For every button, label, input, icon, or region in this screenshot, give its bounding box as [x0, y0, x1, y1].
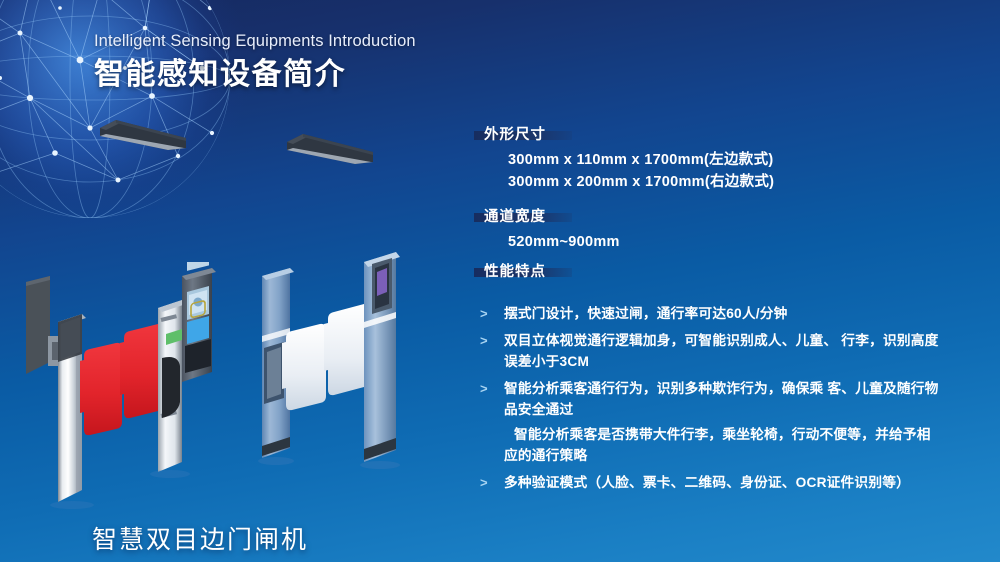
ceiling-light-fixture-left — [98, 118, 188, 152]
section-header-row-1: 通道宽度 — [474, 213, 944, 222]
chevron-right-icon: > — [480, 330, 488, 351]
swing-gate-turnstile-blue-photo — [248, 250, 428, 495]
spec-line: 520mm~900mm — [508, 231, 944, 253]
list-item-sub: 智能分析乘客是否携带大件行李，乘坐轮椅，行动不便等，并给予相应的通行策略 — [474, 424, 944, 466]
performance-feature-list: > 摆式门设计，快速过闸，通行率可达60人/分钟 > 双目立体视觉通行逻辑加身，… — [474, 303, 944, 493]
list-item-text: 智能分析乘客通行行为，识别多种欺诈行为，确保乘 客、儿童及随行物品安全通过 — [504, 381, 939, 417]
list-item-text: 双目立体视觉通行逻辑加身，可智能识别成人、儿童、 行李，识别高度误差小于3CM — [504, 333, 939, 369]
list-item: > 多种验证模式（人脸、票卡、二维码、身份证、OCR证件识别等） — [474, 472, 944, 493]
list-item: > 双目立体视觉通行逻辑加身，可智能识别成人、儿童、 行李，识别高度误差小于3C… — [474, 330, 944, 372]
page-title: Intelligent Sensing Equipments Introduct… — [94, 32, 514, 93]
list-item: > 智能分析乘客通行行为，识别多种欺诈行为，确保乘 客、儿童及随行物品安全通过 — [474, 378, 944, 420]
chevron-right-icon: > — [480, 303, 488, 324]
section-header-row-0: 外形尺寸 — [474, 131, 944, 140]
product-caption: 智慧双目边门闸机 — [92, 520, 308, 556]
section-tag-dimensions: 外形尺寸 — [474, 131, 572, 140]
section-tag-channel-width: 通道宽度 — [474, 213, 572, 222]
list-item-text: 智能分析乘客是否携带大件行李，乘坐轮椅，行动不便等，并给予相应的通行策略 — [504, 427, 931, 463]
title-chinese: 智能感知设备简介 — [94, 56, 514, 94]
swing-gate-turnstile-cutaway-photo — [6, 262, 236, 517]
spec-line: 300mm x 200mm x 1700mm(右边款式) — [508, 171, 944, 193]
list-item-text: 摆式门设计，快速过闸，通行率可达60人/分钟 — [504, 306, 788, 321]
chevron-right-icon: > — [480, 472, 488, 493]
slide-root: Intelligent Sensing Equipments Introduct… — [0, 0, 1000, 562]
spec-list-dimensions: 300mm x 110mm x 1700mm(左边款式) 300mm x 200… — [474, 149, 944, 193]
section-tag-performance: 性能特点 — [474, 268, 572, 277]
spacer — [474, 277, 944, 303]
list-item: > 摆式门设计，快速过闸，通行率可达60人/分钟 — [474, 303, 944, 324]
list-item-text: 多种验证模式（人脸、票卡、二维码、身份证、OCR证件识别等） — [504, 475, 910, 490]
title-english: Intelligent Sensing Equipments Introduct… — [94, 32, 514, 52]
section-header-row-2: 性能特点 — [474, 268, 944, 277]
spec-list-channel-width: 520mm~900mm — [474, 231, 944, 253]
spec-line: 300mm x 110mm x 1700mm(左边款式) — [508, 149, 944, 171]
spec-panel: 外形尺寸 300mm x 110mm x 1700mm(左边款式) 300mm … — [474, 131, 944, 499]
ceiling-light-fixture-right — [285, 132, 375, 166]
chevron-right-icon: > — [480, 378, 488, 399]
